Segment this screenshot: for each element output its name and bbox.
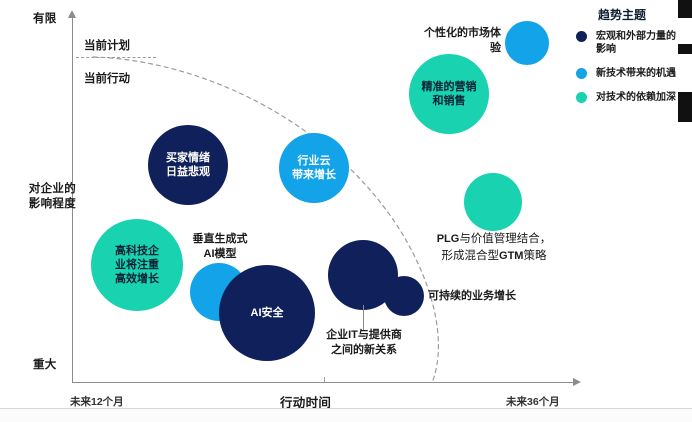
- bubble-label-precise-marketing-sales: 精准的营销 和销售: [422, 80, 477, 108]
- x-axis-tick: [324, 377, 325, 382]
- page-edge-mark-top: [678, 0, 692, 18]
- bubble-label-personalized-market-experience: 个性化的市场体验: [423, 26, 501, 55]
- legend-label-tech-dependence: 对技术的依赖加深: [596, 91, 676, 104]
- bubble-chart-canvas: 有限 重大 对企业的 影响程度 行动时间 未来12个月 未来36个月 当前计划 …: [0, 0, 692, 422]
- y-axis-bottom-label: 重大: [33, 356, 57, 372]
- zone-label-current-plan: 当前计划: [84, 37, 130, 53]
- zone-divider-line: [76, 57, 156, 58]
- y-axis-arrow-icon: [68, 10, 76, 18]
- bubble-personalized-market-experience[interactable]: [505, 21, 549, 65]
- legend-title: 趋势主题: [598, 6, 682, 23]
- page-edge-mark-middle: [678, 44, 692, 54]
- bubble-industry-cloud-growth[interactable]: 行业云 带来增长: [279, 133, 349, 203]
- legend: 趋势主题 宏观和外部力量的影响 新技术带来的机遇 对技术的依赖加深: [576, 6, 682, 115]
- x-axis-end-label: 未来36个月: [506, 394, 560, 409]
- page-edge-mark-lower: [678, 92, 692, 122]
- bubble-label-industry-cloud-growth: 行业云 带来增长: [292, 154, 336, 182]
- bubble-label-buyer-sentiment-pessimism: 买家情绪 日益悲观: [166, 151, 210, 179]
- bubble-plg-value-management[interactable]: [464, 173, 522, 231]
- bubble-label-enterprise-it-vendor-relationship: 企业IT与提供商 之间的新关系: [317, 328, 411, 357]
- bubble-label-hightech-efficient-growth: 高科技企 业将注重 高效增长: [115, 244, 159, 286]
- legend-item-new-tech-opportunity[interactable]: 新技术带来的机遇: [576, 67, 682, 80]
- bubble-hightech-efficient-growth[interactable]: 高科技企 业将注重 高效增长: [91, 219, 183, 311]
- y-axis-top-label: 有限: [33, 10, 57, 26]
- y-axis-title-line1: 对企业的: [14, 182, 76, 197]
- legend-swatch-blue-icon: [576, 68, 587, 79]
- legend-label-new-tech-opportunity: 新技术带来的机遇: [596, 67, 676, 80]
- x-axis-arrow-icon: [573, 378, 581, 386]
- leader-line-enterprise-it: [363, 305, 364, 330]
- bubble-ai-security[interactable]: AI安全: [219, 265, 315, 361]
- legend-swatch-navy-icon: [576, 31, 587, 42]
- y-axis-title: 对企业的 影响程度: [14, 182, 76, 212]
- bubble-buyer-sentiment-pessimism[interactable]: 买家情绪 日益悲观: [148, 125, 228, 205]
- bubble-precise-marketing-sales[interactable]: 精准的营销 和销售: [409, 54, 489, 134]
- footer-band: [0, 409, 692, 422]
- bubble-label-vertical-generative-ai-model: 垂直生成式 AI模型: [177, 232, 263, 261]
- bubble-label-ai-security: AI安全: [251, 306, 284, 320]
- bubble-sustainable-business-growth[interactable]: [384, 276, 424, 316]
- legend-label-macro-external: 宏观和外部力量的影响: [596, 30, 682, 56]
- bubble-label-sustainable-business-growth: 可持续的业务增长: [428, 289, 538, 304]
- x-axis-start-label: 未来12个月: [70, 394, 124, 409]
- x-axis-line: [72, 382, 576, 383]
- legend-item-macro-external[interactable]: 宏观和外部力量的影响: [576, 30, 682, 56]
- bubble-label-plg-value-management: PLG与价值管理结合， 形成混合型GTM策略: [428, 231, 560, 265]
- legend-item-tech-dependence[interactable]: 对技术的依赖加深: [576, 91, 682, 104]
- zone-label-current-action: 当前行动: [84, 70, 130, 86]
- legend-swatch-teal-icon: [576, 92, 587, 103]
- y-axis-title-line2: 影响程度: [14, 197, 76, 212]
